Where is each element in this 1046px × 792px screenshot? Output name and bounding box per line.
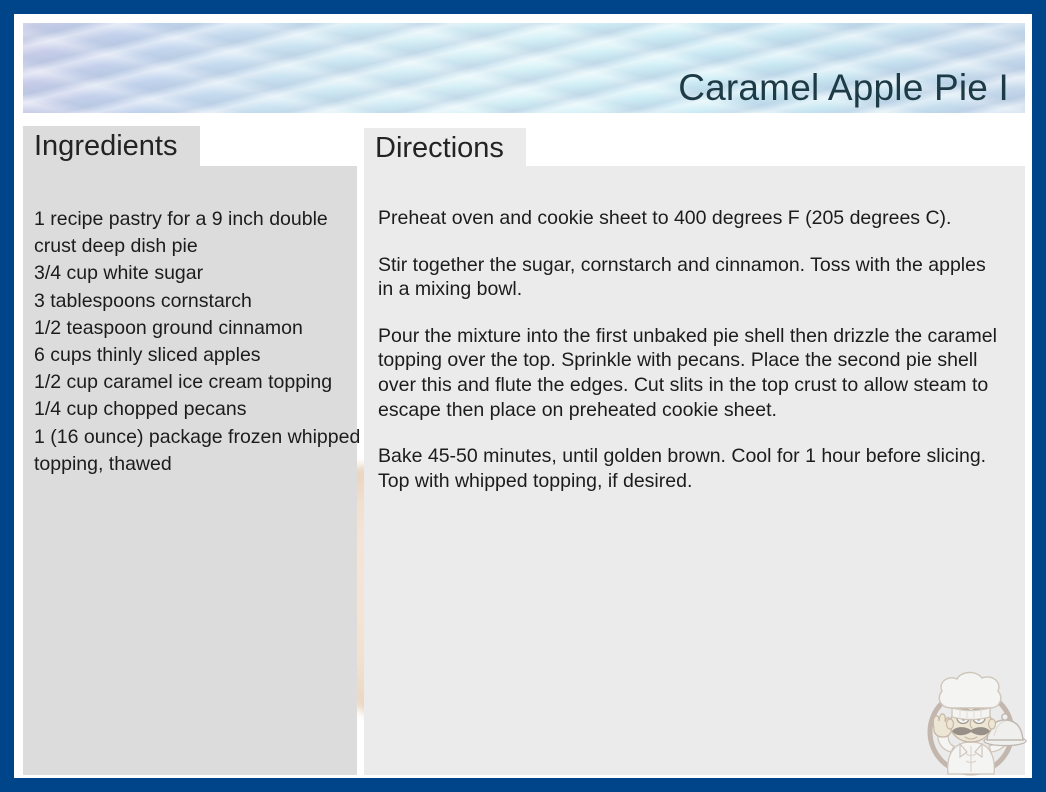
directions-heading-tab: Directions (364, 128, 526, 168)
directions-steps: Preheat oven and cookie sheet to 400 deg… (378, 206, 1003, 493)
direction-step: Bake 45-50 minutes, until golden brown. … (378, 444, 1003, 493)
ingredients-heading: Ingredients (34, 132, 178, 161)
direction-step: Stir together the sugar, cornstarch and … (378, 253, 1003, 302)
header-banner: Caramel Apple Pie I (23, 23, 1025, 113)
direction-step: Preheat oven and cookie sheet to 400 deg… (378, 206, 1003, 231)
direction-step: Pour the mixture into the first unbaked … (378, 324, 1003, 422)
page-title: Caramel Apple Pie I (678, 69, 1009, 108)
directions-heading: Directions (375, 134, 504, 163)
recipe-card: Caramel Apple Pie I (0, 0, 1046, 792)
ingredients-list: 1 recipe pastry for a 9 inch double crus… (34, 206, 370, 478)
ingredients-heading-tab: Ingredients (23, 126, 200, 166)
card-stage: Caramel Apple Pie I (14, 14, 1032, 778)
